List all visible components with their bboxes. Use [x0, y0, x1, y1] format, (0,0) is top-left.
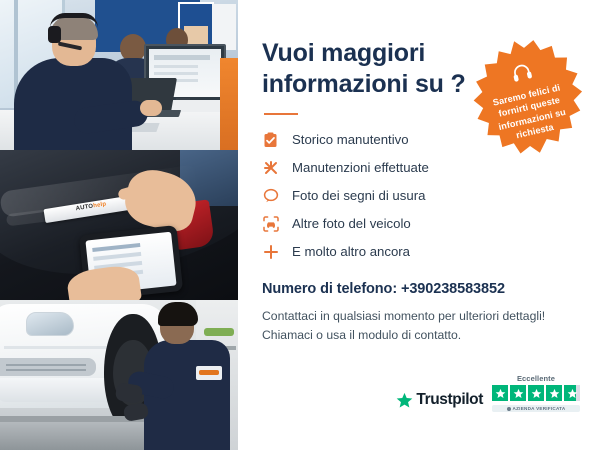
- star-rating: [492, 385, 580, 401]
- verified-label: AZIENDA VERIFICATA: [513, 406, 566, 411]
- list-item: Altre foto del veicolo: [262, 215, 578, 232]
- car-headlight: [26, 312, 74, 336]
- photo-column: AUTOhelp: [0, 0, 238, 450]
- wrench-cross-icon: [262, 159, 279, 176]
- trustpilot-rating: Eccellente: [492, 374, 580, 412]
- agent-hand: [140, 100, 162, 116]
- headset-earcup: [48, 26, 61, 43]
- phone-number[interactable]: Numero di telefono: +390238583852: [262, 281, 578, 297]
- feature-label: E molto altro ancora: [292, 244, 410, 259]
- headset-icon: [509, 61, 535, 89]
- list-item: Foto dei segni di usura: [262, 187, 578, 204]
- trustpilot-star-icon: [396, 392, 413, 409]
- contact-text: Contattaci in qualsiasi momento per ulte…: [262, 307, 578, 346]
- car-grille: [0, 358, 96, 376]
- trustpilot-wordmark: Trustpilot: [416, 391, 483, 409]
- star-filled: [492, 385, 508, 401]
- list-item: E molto altro ancora: [262, 243, 578, 260]
- car-scan-icon: [262, 215, 279, 232]
- content-panel: Vuoi maggiori informazioni su ? Storico …: [238, 0, 600, 450]
- feature-label: Manutenzioni effettuate: [292, 160, 429, 175]
- page-title: Vuoi maggiori informazioni su ?: [262, 38, 477, 99]
- clipboard-check-icon: [262, 131, 279, 148]
- lift-platform: [0, 422, 160, 450]
- mechanic-logo-patch: [196, 366, 222, 380]
- star-filled: [510, 385, 526, 401]
- star-partial: [564, 385, 580, 401]
- promo-banner: AUTOhelp: [0, 0, 600, 450]
- photo-tire-inspection: [0, 300, 238, 450]
- contact-line-2: Chiamaci o usa il modulo di contatto.: [262, 326, 578, 345]
- list-item: Manutenzioni effettuate: [262, 159, 578, 176]
- contact-line-1: Contattaci in qualsiasi momento per ulte…: [262, 307, 578, 326]
- garage-item: [204, 328, 234, 336]
- mechanic-hair: [158, 302, 198, 326]
- speech-bubble-icon: [262, 187, 279, 204]
- title-divider: [264, 113, 298, 115]
- orange-accent-strip: [220, 58, 238, 150]
- star-filled: [528, 385, 544, 401]
- photo-vehicle-inspection: AUTOhelp: [0, 150, 238, 300]
- trustpilot-logo: Trustpilot: [396, 391, 483, 412]
- plus-icon: [262, 243, 279, 260]
- badge-text: Saremo felici di fornirti queste informa…: [484, 80, 577, 147]
- feature-label: Storico manutentivo: [292, 132, 409, 147]
- feature-label: Altre foto del veicolo: [292, 216, 411, 231]
- star-filled: [546, 385, 562, 401]
- photo-call-center-agent: [0, 0, 238, 150]
- feature-label: Foto dei segni di usura: [292, 188, 425, 203]
- verified-badge: AZIENDA VERIFICATA: [492, 405, 580, 412]
- verified-check-icon: [507, 407, 511, 411]
- trustpilot-widget[interactable]: Trustpilot Eccellente: [396, 374, 580, 412]
- rating-label: Eccellente: [517, 374, 555, 383]
